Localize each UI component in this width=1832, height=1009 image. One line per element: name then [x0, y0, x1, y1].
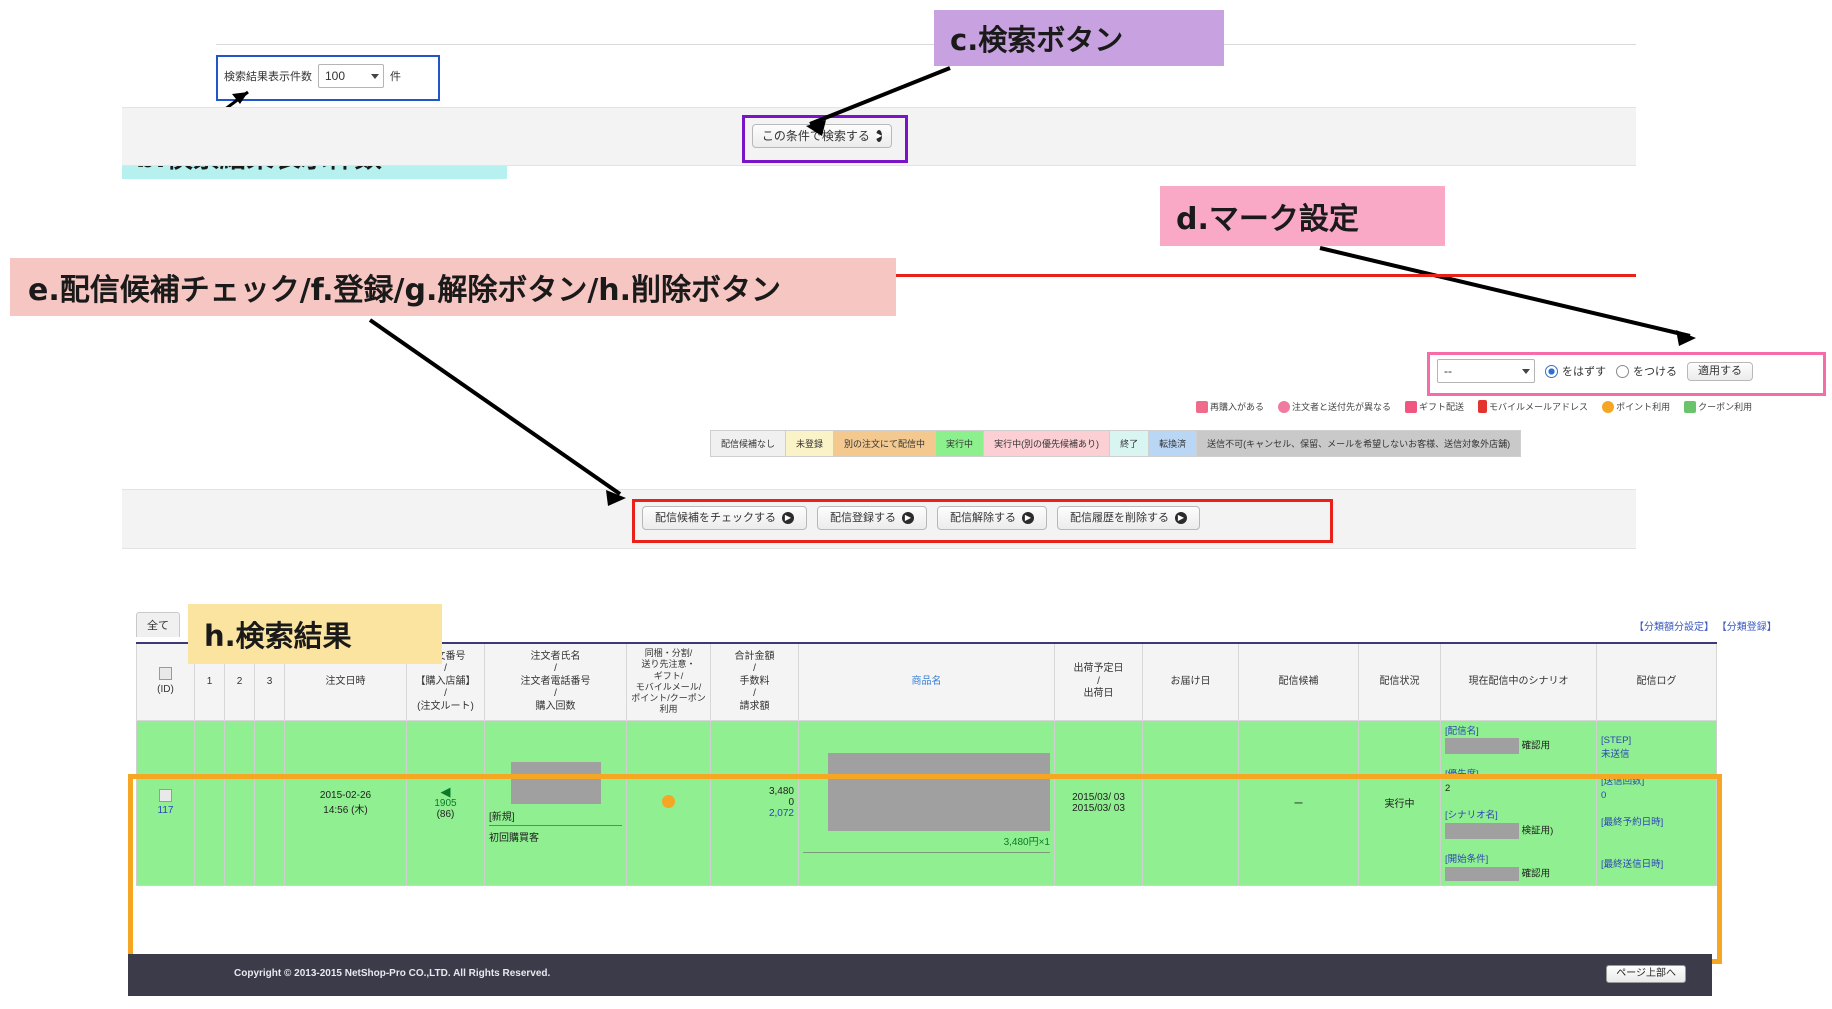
category-links-label: 【分類額分設定】 【分類登録】	[1634, 622, 1777, 633]
status-legend-label: 実行中	[941, 434, 978, 453]
scenario-scenario-label: [シナリオ名]	[1445, 810, 1498, 821]
cancel-delivery-button[interactable]: 配信解除する ▶	[937, 506, 1047, 530]
header-bundle-gift[interactable]: 同梱・分割/ 送り先注意・ ギフト/ モバイルメール/ ポイント/クーポン 利用	[627, 643, 711, 720]
mobile-mail-icon	[1478, 400, 1487, 413]
log-last-sent-label: [最終送信日時]	[1601, 859, 1663, 870]
status-legend-item: 配信候補なし	[711, 431, 786, 456]
header-delivery-candidate[interactable]: 配信候補	[1239, 643, 1359, 720]
header-orderer-l2: /	[554, 663, 557, 674]
cell-delivery-log: [STEP] 未送信 [送信回数] 0 [最終予約日時] [最終送信日時]	[1597, 720, 1717, 885]
scenario-condition-redacted	[1445, 867, 1519, 881]
route-arrow-icon: ◀	[411, 785, 480, 798]
status-legend-label: 送信不可(キャンセル、保留、メールを希望しないお客様、送信対象外店舗)	[1202, 434, 1515, 453]
header-mark3-label: 3	[267, 676, 273, 687]
status-legend-item: 送信不可(キャンセル、保留、メールを希望しないお客様、送信対象外店舗)	[1197, 431, 1520, 456]
header-delivery-date-label: お届け日	[1171, 676, 1211, 687]
results-table-wrap: (ID) 1 2 3 注文日時 注文番号 / 【購入店舗】 / (注文ルート) …	[136, 642, 1717, 886]
header-product-name-label: 商品名	[912, 676, 942, 687]
header-order-number-l3: 【購入店舗】	[416, 676, 476, 687]
icon-legend: 再購入がある 注文者と送付先が異なる ギフト配送 モバイルメールアドレス ポイン…	[1196, 400, 1752, 413]
header-ship-l1: 出荷予定日	[1074, 663, 1124, 674]
cell-delivery-candidate: ー	[1239, 720, 1359, 885]
annotation-c-label: c.検索ボタン	[950, 17, 1123, 59]
table-row[interactable]: 117 2015-02-26 14:56 (木) ◀ 1905 (86) [新規…	[137, 720, 1717, 885]
register-delivery-label: 配信登録する	[830, 513, 896, 524]
legend-item-point: ポイント利用	[1602, 400, 1670, 413]
log-count-value: 0	[1601, 790, 1606, 801]
status-legend-label: 別の注文にて配信中	[839, 434, 930, 453]
status-legend: 配信候補なし 未登録 別の注文にて配信中 実行中 実行中(別の優先候補あり) 終…	[710, 430, 1521, 457]
header-total-l2: /	[753, 663, 756, 674]
header-order-number-l5: (注文ルート)	[417, 701, 474, 712]
log-last-reserved-label: [最終予約日時]	[1601, 817, 1663, 828]
mark-select[interactable]: --	[1437, 359, 1535, 383]
coupon-use-icon	[1684, 401, 1696, 413]
back-to-top-button[interactable]: ページ上部へ	[1606, 965, 1686, 983]
delete-delivery-history-label: 配信履歴を削除する	[1070, 513, 1169, 524]
status-legend-item: 未登録	[786, 431, 834, 456]
header-orderer-l4: /	[554, 688, 557, 699]
header-delivery-status[interactable]: 配信状況	[1359, 643, 1441, 720]
cancel-delivery-label: 配信解除する	[950, 513, 1016, 524]
back-to-top-label: ページ上部へ	[1616, 968, 1676, 979]
status-legend-label: 実行中(別の優先候補あり)	[989, 434, 1104, 453]
header-orderer-l1: 注文者氏名	[531, 651, 581, 662]
register-delivery-button[interactable]: 配信登録する ▶	[817, 506, 927, 530]
search-button-label: この条件で検索する	[762, 130, 870, 142]
chevron-right-icon: ▶	[1175, 512, 1187, 524]
chevron-down-icon	[1522, 369, 1530, 374]
cell-delivery-status: 実行中	[1359, 720, 1441, 885]
legend-item-mobile-mail: モバイルメールアドレス	[1478, 400, 1588, 413]
header-order-number-l4: /	[444, 688, 447, 699]
legend-label-gift: ギフト配送	[1419, 400, 1464, 413]
header-bundle-l6: 利用	[659, 704, 677, 714]
status-legend-label: 配信候補なし	[716, 434, 780, 453]
search-button[interactable]: この条件で検索する ▶	[752, 124, 892, 148]
tab-all-label: 全て	[147, 617, 169, 633]
header-ship-l2: /	[1097, 676, 1100, 687]
cell-order-number[interactable]: ◀ 1905 (86)	[407, 720, 485, 885]
header-orderer[interactable]: 注文者氏名 / 注文者電話番号 / 購入回数	[485, 643, 627, 720]
row-checkbox[interactable]	[159, 789, 172, 802]
header-bundle-l4: モバイルメール/	[636, 682, 702, 692]
cell-current-scenario: [配信名] 確認用 [優先度] 2 [シナリオ名] 検証用) [開始条件] 確認…	[1441, 720, 1597, 885]
cell-bundle-gift	[627, 720, 711, 885]
header-bundle-l1: 同梱・分割/	[645, 648, 693, 658]
row-billed: 2,072	[769, 808, 794, 819]
chevron-right-icon: ▶	[876, 130, 882, 142]
chevron-right-icon: ▶	[1022, 512, 1034, 524]
row-product-price: 3,480円×1	[1004, 837, 1050, 848]
mark-select-value: --	[1444, 364, 1452, 378]
status-legend-label: 未登録	[791, 434, 828, 453]
header-orderer-l3: 注文者電話番号	[521, 676, 591, 687]
radio-remove-icon[interactable]	[1545, 365, 1558, 378]
legend-label-point: ポイント利用	[1616, 400, 1670, 413]
scenario-priority-value: 2	[1445, 783, 1450, 794]
status-legend-item: 別の注文にて配信中	[834, 431, 936, 456]
header-total-l3: 手数料	[740, 676, 770, 687]
legend-label-different-address: 注文者と送付先が異なる	[1292, 400, 1391, 413]
scenario-name-suffix: 確認用	[1522, 741, 1551, 752]
header-delivery-date[interactable]: お届け日	[1143, 643, 1239, 720]
legend-item-gift: ギフト配送	[1405, 400, 1464, 413]
annotation-h-label: h.検索結果	[204, 613, 352, 655]
header-id-label: (ID)	[157, 684, 174, 695]
row-shop: (86)	[437, 809, 455, 820]
check-delivery-candidate-label: 配信候補をチェックする	[655, 513, 776, 524]
header-product-name[interactable]: 商品名	[799, 643, 1055, 720]
cell-ship-date: 2015/03/ 03 2015/03/ 03	[1055, 720, 1143, 885]
scenario-scenario-redacted	[1445, 823, 1519, 839]
results-table: (ID) 1 2 3 注文日時 注文番号 / 【購入店舗】 / (注文ルート) …	[136, 642, 1717, 886]
footer: Copyright © 2013-2015 NetShop-Pro CO.,LT…	[128, 954, 1712, 996]
header-orderer-l5: 購入回数	[536, 701, 576, 712]
header-delivery-status-label: 配信状況	[1380, 676, 1420, 687]
status-legend-item: 転換済	[1149, 431, 1197, 456]
cell-orderer: [新規] 初回購買客	[485, 720, 627, 885]
mark-settings-row: -- をはずす をつける 適用する	[1437, 360, 1813, 382]
header-total-l5: 請求額	[740, 701, 770, 712]
search-count-unit: 件	[390, 68, 401, 84]
row-total: 3,480	[769, 786, 794, 797]
status-legend-label: 転換済	[1154, 434, 1191, 453]
cell-delivery-date	[1143, 720, 1239, 885]
cell-mark2[interactable]	[225, 720, 255, 885]
scenario-name-label: [配信名]	[1445, 726, 1479, 737]
search-count-row: 検索結果表示件数 100 件	[224, 62, 430, 90]
header-delivery-log-label: 配信ログ	[1637, 676, 1677, 687]
status-legend-item: 実行中	[936, 431, 984, 456]
header-total[interactable]: 合計金額 / 手数料 / 請求額	[711, 643, 799, 720]
header-ship-l3: 出荷日	[1084, 688, 1114, 699]
top-rule-left	[216, 44, 484, 45]
header-mark1-label: 1	[207, 676, 213, 687]
header-delivery-candidate-label: 配信候補	[1279, 676, 1319, 687]
legend-item-coupon: クーポン利用	[1684, 400, 1752, 413]
row-id-label: 117	[158, 805, 174, 816]
scenario-box: [配信名] 確認用 [優先度] 2 [シナリオ名] 検証用) [開始条件] 確認…	[1445, 725, 1592, 881]
category-links[interactable]: 【分類額分設定】 【分類登録】	[1634, 618, 1777, 633]
annotation-e: e.配信候補チェック/f.登録/g.解除ボタン/h.削除ボタン	[10, 258, 896, 316]
status-legend-label: 終了	[1115, 434, 1143, 453]
header-current-scenario-label: 現在配信中のシナリオ	[1469, 676, 1569, 687]
product-underline	[803, 852, 1050, 853]
search-count-label: 検索結果表示件数	[224, 68, 312, 84]
row-order-time: 14:56 (木)	[323, 805, 367, 816]
header-bundle-l2: 送り先注意・	[641, 659, 695, 669]
scenario-priority-label: [優先度]	[1445, 769, 1479, 780]
header-order-number-l2: /	[444, 663, 447, 674]
scenario-name-redacted	[1445, 738, 1519, 754]
tab-all[interactable]: 全て	[136, 612, 180, 637]
log-step-label: [STEP]	[1601, 735, 1631, 746]
annotation-e-label: e.配信候補チェック/f.登録/g.解除ボタン/h.削除ボタン	[28, 265, 781, 309]
cell-mark3[interactable]	[255, 720, 285, 885]
header-mark2-label: 2	[237, 676, 243, 687]
status-legend-item: 実行中(別の優先候補あり)	[984, 431, 1110, 456]
cell-product-name[interactable]: 3,480円×1	[799, 720, 1055, 885]
cell-order-datetime: 2015-02-26 14:56 (木)	[285, 720, 407, 885]
repurchase-icon	[1196, 401, 1208, 413]
action-buttons-row: 配信候補をチェックする ▶ 配信登録する ▶ 配信解除する ▶ 配信履歴を削除す…	[642, 506, 1318, 530]
search-count-select[interactable]: 100	[318, 64, 384, 88]
header-id[interactable]: (ID)	[137, 643, 195, 720]
header-bundle-l3: ギフト/	[654, 671, 684, 681]
header-delivery-log[interactable]: 配信ログ	[1597, 643, 1717, 720]
header-bundle-l5: ポイント/クーポン	[631, 693, 706, 703]
header-total-l1: 合計金額	[735, 651, 775, 662]
scenario-scenario-suffix: 検証用)	[1522, 826, 1554, 837]
cell-total: 3,480 0 2,072	[711, 720, 799, 885]
row-delivery-candidate: ー	[1294, 799, 1304, 810]
cell-mark1[interactable]	[195, 720, 225, 885]
header-total-l4: /	[753, 688, 756, 699]
header-current-scenario[interactable]: 現在配信中のシナリオ	[1441, 643, 1597, 720]
mark-add-label: をつける	[1633, 363, 1677, 379]
chevron-down-icon	[371, 74, 379, 79]
log-step-value: 未送信	[1601, 749, 1630, 760]
mark-add-option[interactable]: をつける	[1616, 363, 1677, 379]
chevron-right-icon: ▶	[902, 512, 914, 524]
row-delivery-status: 実行中	[1385, 799, 1415, 810]
scenario-condition-label: [開始条件]	[1445, 854, 1488, 865]
header-ship-date[interactable]: 出荷予定日 / 出荷日	[1055, 643, 1143, 720]
annotation-c: c.検索ボタン	[934, 10, 1224, 66]
annotation-h: h.検索結果	[188, 604, 442, 664]
cell-id[interactable]: 117	[137, 720, 195, 885]
legend-item-repurchase: 再購入がある	[1196, 400, 1264, 413]
select-all-checkbox[interactable]	[159, 667, 172, 680]
row-ship-done: 2015/03/ 03	[1072, 803, 1125, 814]
different-address-icon	[1278, 401, 1290, 413]
product-name-redacted	[828, 753, 1050, 831]
row-ship-planned: 2015/03/ 03	[1072, 792, 1125, 803]
log-count-label: [送信回数]	[1601, 776, 1644, 787]
orderer-tag: [新規]	[489, 808, 622, 826]
delete-delivery-history-button[interactable]: 配信履歴を削除する ▶	[1057, 506, 1200, 530]
row-order-date: 2015-02-26	[320, 790, 371, 801]
row-order-number: 1905	[434, 798, 456, 809]
annotation-d: d.マーク設定	[1160, 186, 1445, 246]
search-count-value: 100	[325, 69, 345, 83]
legend-label-repurchase: 再購入がある	[1210, 400, 1264, 413]
radio-add-icon[interactable]	[1616, 365, 1629, 378]
legend-label-mobile-mail: モバイルメールアドレス	[1489, 400, 1588, 413]
mark-apply-label: 適用する	[1698, 366, 1742, 377]
orderer-name-redacted	[511, 762, 601, 804]
orderer-type: 初回購買客	[489, 829, 622, 844]
mark-remove-option[interactable]: をはずす	[1545, 363, 1606, 379]
mark-remove-label: をはずす	[1562, 363, 1606, 379]
check-delivery-candidate-button[interactable]: 配信候補をチェックする ▶	[642, 506, 807, 530]
legend-label-coupon: クーポン利用	[1698, 400, 1752, 413]
point-use-icon	[1602, 401, 1614, 413]
log-box: [STEP] 未送信 [送信回数] 0 [最終予約日時] [最終送信日時]	[1601, 734, 1712, 872]
point-use-icon	[662, 795, 675, 808]
scenario-condition-suffix: 確認用	[1522, 868, 1551, 879]
row-fee: 0	[788, 797, 794, 808]
annotation-d-label: d.マーク設定	[1176, 194, 1359, 238]
chevron-right-icon: ▶	[782, 512, 794, 524]
header-order-datetime-label: 注文日時	[326, 676, 366, 687]
mark-apply-button[interactable]: 適用する	[1687, 362, 1753, 381]
legend-item-different-address: 注文者と送付先が異なる	[1278, 400, 1391, 413]
footer-copyright: Copyright © 2013-2015 NetShop-Pro CO.,LT…	[234, 968, 550, 979]
gift-delivery-icon	[1405, 401, 1417, 413]
status-legend-item: 終了	[1110, 431, 1149, 456]
